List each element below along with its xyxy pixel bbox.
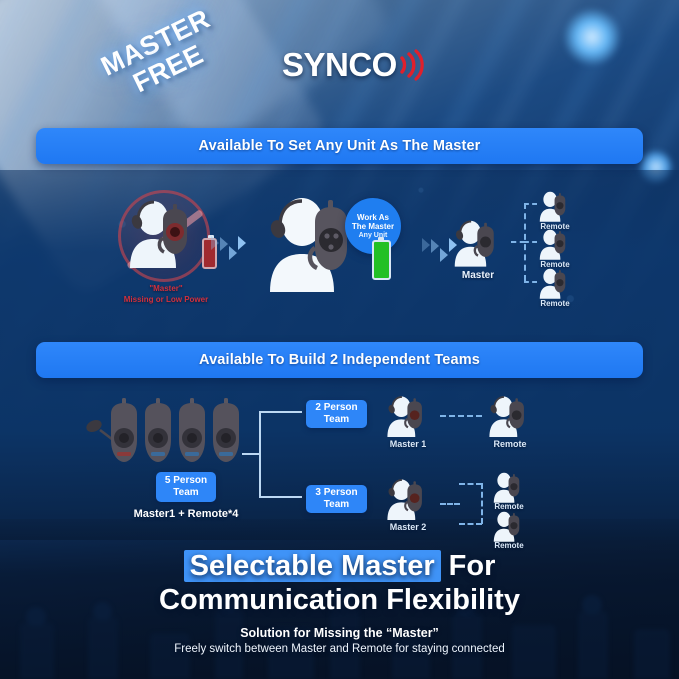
chevron-right-icon xyxy=(229,246,237,260)
section-bar-1-label: Available To Set Any Unit As The Master xyxy=(199,138,481,154)
person-with-headset-icon xyxy=(487,394,533,440)
chevron-right-icon xyxy=(440,248,448,262)
battery-full-icon xyxy=(372,240,391,280)
split-connector-in xyxy=(242,453,260,455)
chevron-right-icon xyxy=(238,236,246,250)
team2-remote-figure-2: Remote xyxy=(492,510,526,549)
split-connector-spine xyxy=(259,411,261,496)
connector-branch-bottom xyxy=(524,281,537,283)
two-team-line2: Team xyxy=(324,414,349,427)
master1-figure: Master 1 xyxy=(385,394,431,445)
synco-logo: SYNCO xyxy=(282,46,424,84)
split-connector-bottom xyxy=(259,496,302,498)
person-with-headset-icon xyxy=(385,477,431,523)
person-with-headset-icon xyxy=(126,198,202,272)
chevron-right-icon xyxy=(220,237,228,251)
failed-master-figure xyxy=(126,198,202,277)
connector-branch-top xyxy=(524,203,537,205)
synco-logo-text: SYNCO xyxy=(282,46,397,84)
remote-figure-2: Remote xyxy=(538,228,572,267)
footer-headline-highlight: Selectable Master xyxy=(184,550,441,582)
chevron-right-icon xyxy=(211,236,219,250)
connector-branch-mid xyxy=(524,241,537,243)
arrow-group-1 xyxy=(211,236,246,260)
team1-remote-figure: Remote xyxy=(487,394,533,445)
infographic-page: MASTER FREE SYNCO Available To Set Any U… xyxy=(0,0,679,679)
footer-headline-rest: For xyxy=(449,550,496,582)
footer-sub1: Solution for Missing the “Master” xyxy=(0,626,679,640)
connector-horizontal xyxy=(511,241,525,243)
footer-headline-line2: Communication Flexibility xyxy=(0,584,679,616)
five-person-team-pill: 5 Person Team xyxy=(156,472,216,502)
footer-sub2: Freely switch between Master and Remote … xyxy=(0,643,679,655)
split-connector-top xyxy=(259,411,302,413)
remote-figure-1: Remote xyxy=(538,190,572,229)
section-bar-2-label: Available To Build 2 Independent Teams xyxy=(199,352,480,368)
bubble-line1: Work As xyxy=(357,213,389,222)
chevron-right-icon xyxy=(422,238,430,252)
failed-master-label: "Master" Missing or Low Power xyxy=(96,284,236,306)
person-with-headset-icon xyxy=(538,267,572,301)
person-with-headset-icon xyxy=(492,471,526,505)
failed-master-label-line2: Missing or Low Power xyxy=(96,295,236,306)
bubble-line2: The Master xyxy=(352,222,394,231)
section-bar-two-teams: Available To Build 2 Independent Teams xyxy=(36,342,643,378)
five-team-line2: Team xyxy=(173,487,198,500)
footer-block: Selectable Master For Communication Flex… xyxy=(0,550,679,655)
person-with-headset-icon xyxy=(385,394,431,440)
master2-figure: Master 2 xyxy=(385,477,431,528)
chevron-right-icon xyxy=(431,239,439,253)
person-with-headset-icon xyxy=(492,510,526,544)
five-team-caption: Master1 + Remote*4 xyxy=(86,508,286,520)
team1-link xyxy=(440,415,482,417)
device-group-five xyxy=(84,396,264,477)
team2-remote-figure-1: Remote xyxy=(492,471,526,510)
failed-master-label-line1: "Master" xyxy=(96,284,236,295)
master-label: Master xyxy=(418,270,538,281)
team1-remote-label: Remote xyxy=(450,439,570,449)
three-person-team-pill: 3 Person Team xyxy=(306,485,367,513)
team2-remote-label: Remote xyxy=(449,541,569,550)
sound-wave-icon xyxy=(398,49,424,81)
two-person-team-pill: 2 Person Team xyxy=(306,400,367,428)
person-with-headset-icon xyxy=(538,228,572,262)
team2-branch-bottom xyxy=(459,523,482,525)
master2-label: Master 2 xyxy=(348,522,468,532)
team2-branch-top xyxy=(459,483,482,485)
three-team-line2: Team xyxy=(324,499,349,512)
remote-figure-3: Remote xyxy=(538,267,572,306)
footer-headline-line1: Selectable Master For xyxy=(0,550,679,582)
remote-label: Remote xyxy=(495,299,615,308)
section-bar-set-any-unit: Available To Set Any Unit As The Master xyxy=(36,128,643,164)
five-team-line1: 5 Person xyxy=(165,475,207,488)
two-team-line1: 2 Person xyxy=(315,402,357,415)
person-with-headset-icon xyxy=(538,190,572,224)
three-team-line1: 3 Person xyxy=(315,487,357,500)
five-devices-icon xyxy=(84,396,264,472)
